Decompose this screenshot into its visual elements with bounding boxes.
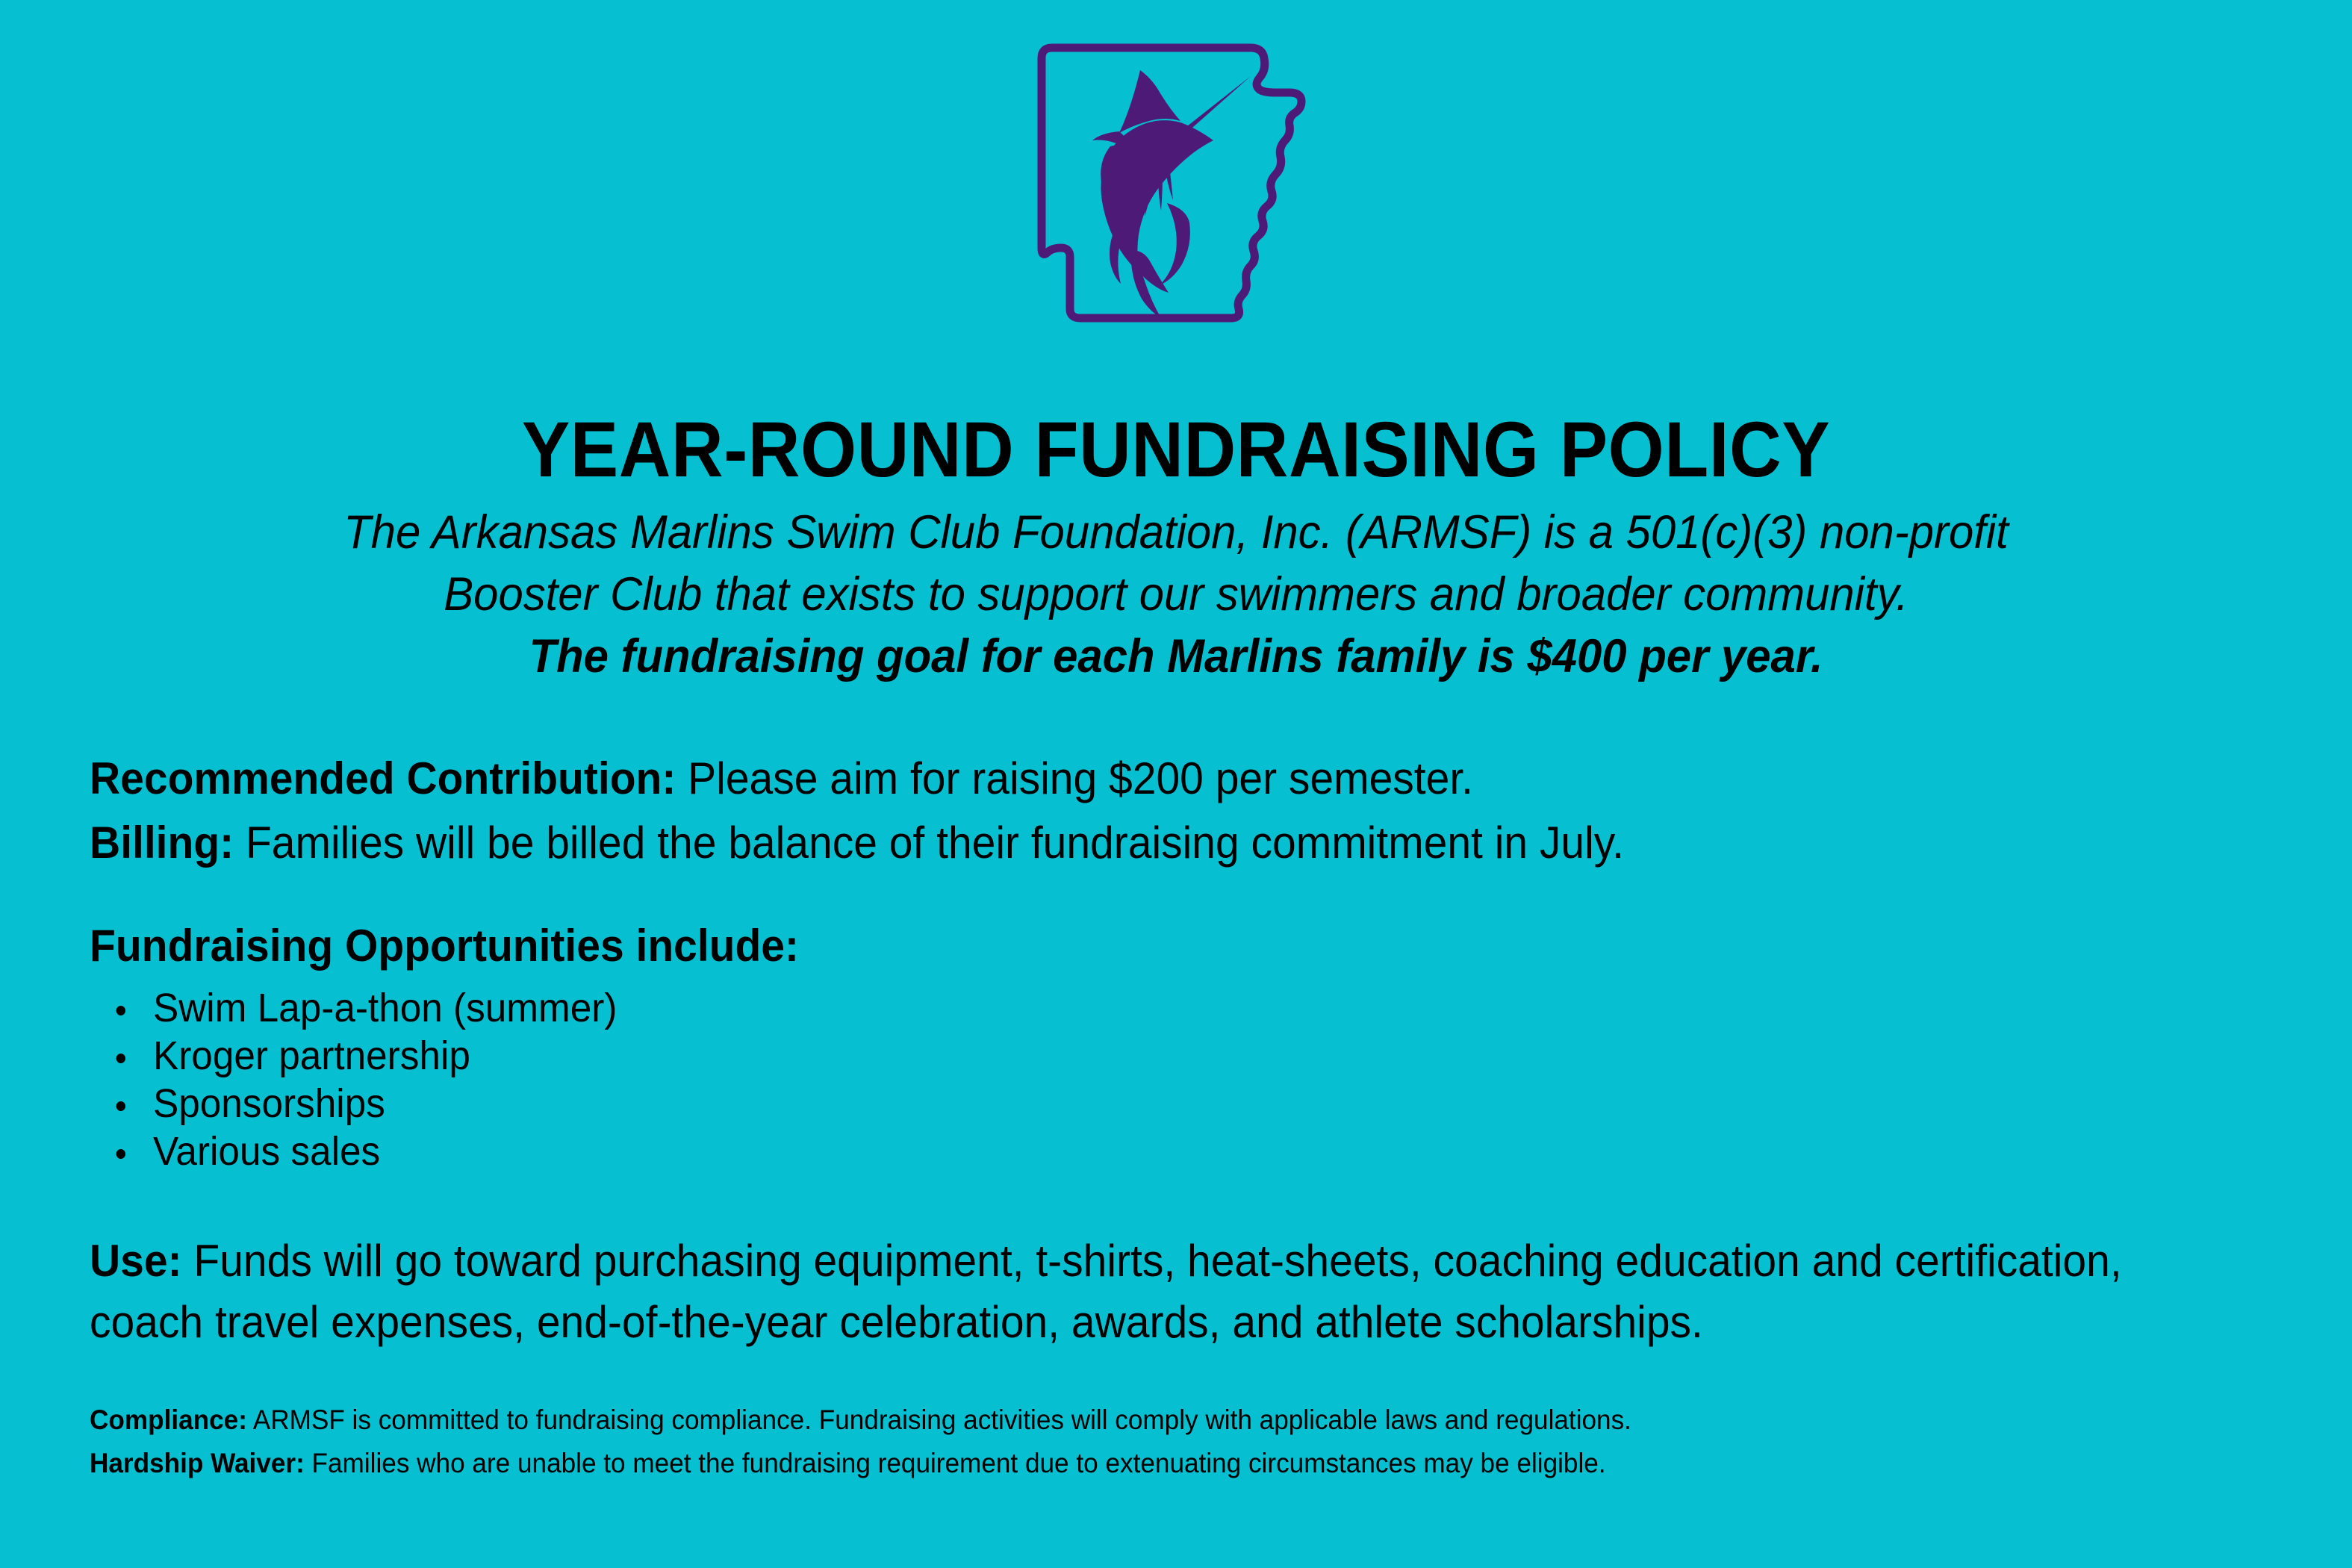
- arkansas-marlins-logo-icon: [1027, 39, 1325, 330]
- hardship-waiver-text: Families who are unable to meet the fund…: [305, 1448, 1606, 1478]
- list-item: Swim Lap-a-thon (summer): [111, 984, 617, 1032]
- intro-paragraph: The Arkansas Marlins Swim Club Foundatio…: [208, 502, 2144, 688]
- billing-text: Families will be billed the balance of t…: [234, 818, 1624, 868]
- list-item: Kroger partnership: [111, 1032, 617, 1080]
- compliance-text: ARMSF is committed to fundraising compli…: [247, 1404, 1631, 1435]
- compliance-label: Compliance:: [90, 1404, 247, 1435]
- recommended-contribution-text: Please aim for raising $200 per semester…: [676, 753, 1473, 803]
- billing-label: Billing:: [90, 818, 234, 868]
- compliance-line: Compliance: ARMSF is committed to fundra…: [90, 1402, 2168, 1438]
- logo-container: [0, 39, 2352, 330]
- opportunities-list: Swim Lap-a-thon (summer) Kroger partners…: [111, 984, 617, 1175]
- use-label: Use:: [90, 1236, 182, 1286]
- hardship-waiver-line: Hardship Waiver: Families who are unable…: [90, 1446, 2168, 1481]
- opportunities-heading: Fundraising Opportunities include:: [90, 920, 799, 971]
- intro-line-2: Booster Club that exists to support our …: [208, 564, 2144, 626]
- list-item: Various sales: [111, 1127, 617, 1175]
- intro-line-1: The Arkansas Marlins Swim Club Foundatio…: [208, 502, 2144, 564]
- fundraising-policy-poster: YEAR-ROUND FUNDRAISING POLICY The Arkans…: [0, 0, 2352, 1568]
- fundraising-goal-statement: The fundraising goal for each Marlins fa…: [208, 626, 2144, 688]
- recommended-contribution-line: Recommended Contribution: Please aim for…: [90, 748, 2161, 809]
- recommended-contribution-label: Recommended Contribution:: [90, 753, 676, 803]
- list-item: Sponsorships: [111, 1080, 617, 1127]
- page-title: YEAR-ROUND FUNDRAISING POLICY: [94, 409, 2258, 491]
- use-text: Funds will go toward purchasing equipmen…: [90, 1236, 2122, 1347]
- billing-line: Billing: Families will be billed the bal…: [90, 812, 2161, 874]
- hardship-waiver-label: Hardship Waiver:: [90, 1448, 305, 1478]
- use-paragraph: Use: Funds will go toward purchasing equ…: [90, 1231, 2168, 1352]
